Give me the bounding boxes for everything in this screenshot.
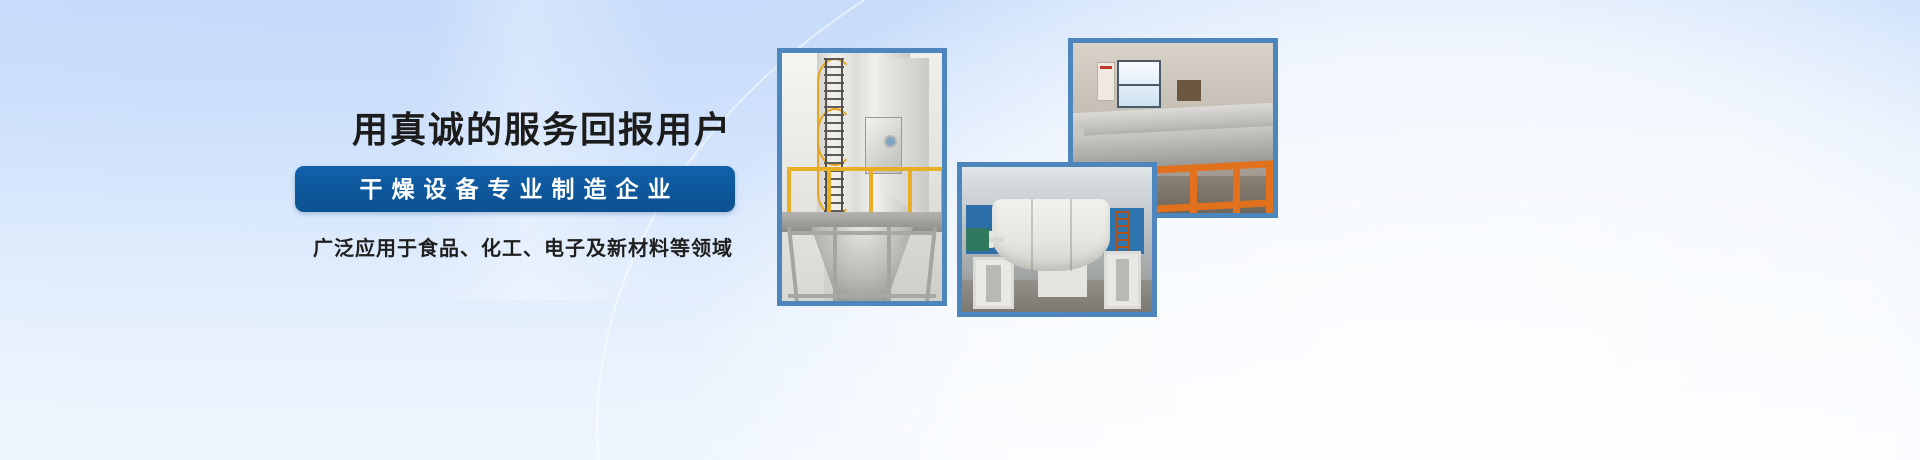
ribbon-mixer-photo — [957, 162, 1157, 317]
spray-dryer-tower-photo — [777, 48, 947, 306]
photo-collage — [0, 0, 1920, 460]
drive-motor — [966, 228, 989, 251]
control-box — [1177, 80, 1201, 100]
support-legs — [788, 227, 935, 301]
workshop-window — [1117, 60, 1161, 108]
mixer-stand — [1104, 251, 1140, 309]
spray-dryer-image — [782, 53, 942, 301]
ribbon-mixer-image — [962, 167, 1152, 312]
mixer-vessel — [992, 199, 1110, 272]
step-ladder — [1116, 211, 1129, 255]
wall-sign — [1097, 62, 1115, 101]
mixer-stand — [973, 257, 1013, 309]
inspection-hatch — [865, 117, 902, 174]
hero-banner: 用真诚的服务回报用户 干燥设备专业制造企业 广泛应用于食品、化工、电子及新材料等… — [0, 0, 1920, 460]
